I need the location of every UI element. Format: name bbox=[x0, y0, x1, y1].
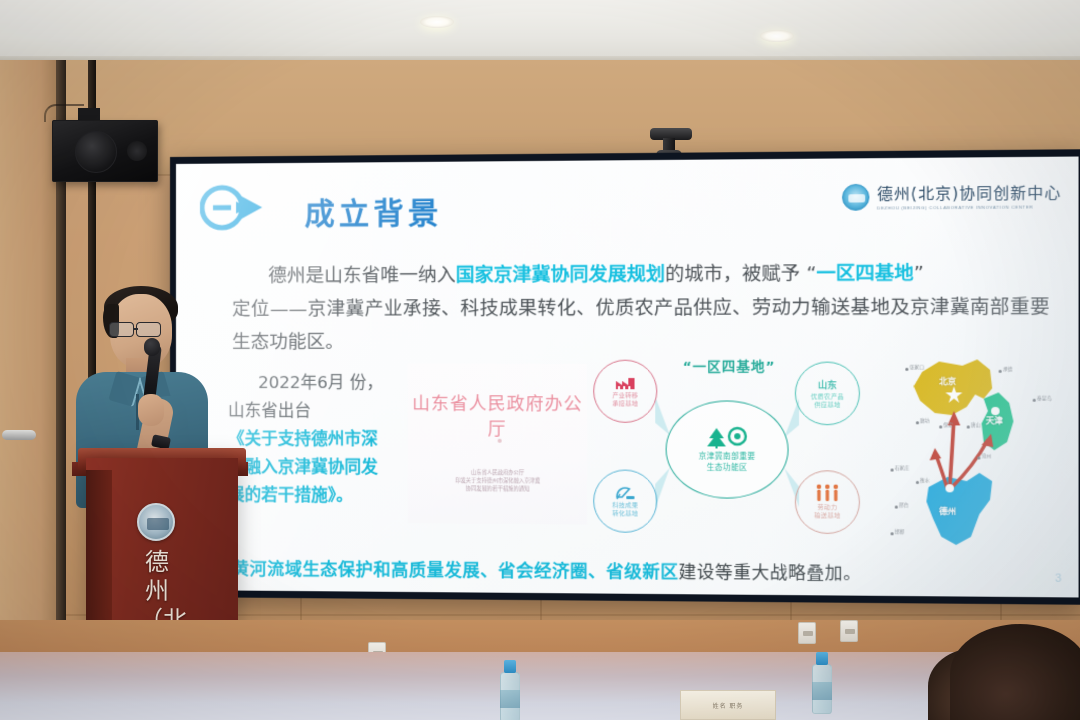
document-thumbnail: 山东省人民政府办公厅 山东省人民政府办公厅 印发关于支持德州市深化融入京津冀 协… bbox=[408, 364, 587, 525]
section-number-badge bbox=[200, 181, 264, 244]
ceiling bbox=[0, 0, 1080, 64]
brand-name-cn: 德州(北京)协同创新中心 bbox=[877, 181, 1061, 204]
para-highlight-2: 一区四基地 bbox=[816, 263, 913, 285]
industry-label-2: 承接基地 bbox=[612, 400, 638, 408]
labor-label-1: 劳动力 bbox=[814, 504, 840, 512]
map-label: 廊坊 bbox=[920, 418, 930, 424]
para-highlight-1: 国家京津冀协同发展规划 bbox=[456, 264, 665, 286]
glasses-right-lens bbox=[136, 322, 161, 337]
slide-left-text: 2022年6月 份，山东省出台 《关于支持德州市深化融入京津冀协同发展的若干措施… bbox=[228, 369, 389, 510]
projection-screen-frame: 成立背景 德州(北京)协同创新中心 DEZHOU (BEIJING) COLLA… bbox=[170, 149, 1080, 605]
diagram-node-center: 京津冀南部重要 生态功能区 bbox=[666, 400, 789, 498]
document-seal-icon bbox=[497, 439, 501, 443]
slide-paragraph: 德州是山东省唯一纳入国家京津冀协同发展规划的城市，被赋予 “一区四基地” 定位—… bbox=[232, 256, 1050, 359]
foreground-attendee-head bbox=[950, 624, 1080, 720]
document-header-text: 山东省人民政府办公厅 bbox=[408, 390, 587, 441]
labor-label-2: 输送基地 bbox=[814, 512, 840, 520]
downlight bbox=[760, 30, 794, 42]
map-city-beijing: 北京 bbox=[939, 376, 956, 387]
name-card-text: 姓名 职务 bbox=[681, 701, 775, 710]
center-label-2: 生态功能区 bbox=[699, 462, 756, 473]
map-label: 邯郸 bbox=[895, 529, 905, 535]
satellite-dish-icon bbox=[614, 484, 637, 500]
agri-label-2: 供应基地 bbox=[811, 401, 844, 409]
map-label: 秦皇岛 bbox=[1037, 396, 1052, 402]
bottle-cap-icon bbox=[816, 652, 828, 665]
map-label: 沧州 bbox=[982, 453, 992, 459]
brand-name-en: DEZHOU (BEIJING) COLLABORATIVE INNOVATIO… bbox=[877, 204, 1061, 210]
brand-logo: 德州(北京)协同创新中心 DEZHOU (BEIJING) COLLABORAT… bbox=[842, 181, 1061, 210]
glasses-bridge bbox=[134, 328, 138, 330]
bottle-cap-icon bbox=[504, 660, 516, 673]
wall-outlet[interactable] bbox=[798, 622, 816, 644]
map-label: 保定 bbox=[943, 422, 953, 428]
slide-page-number: 3 bbox=[1055, 572, 1062, 584]
speaker-tweeter-icon bbox=[127, 141, 147, 161]
one-zone-four-bases-diagram: “一区四基地” 京津冀南部重要 bbox=[587, 355, 868, 540]
left-tail: 。 bbox=[336, 486, 353, 505]
name-card: 姓名 职务 bbox=[680, 690, 776, 720]
center-label-1: 京津冀南部重要 bbox=[699, 450, 756, 461]
institution-emblem-icon bbox=[137, 503, 175, 541]
projection-screen: 成立背景 德州(北京)协同创新中心 DEZHOU (BEIJING) COLLA… bbox=[176, 157, 1079, 598]
microphone-head-icon bbox=[144, 338, 160, 356]
para-seg-3: ” bbox=[914, 263, 924, 285]
tech-label-2: 转化基地 bbox=[612, 510, 638, 518]
map-label: 唐山 bbox=[971, 422, 981, 428]
agri-top-label: 山东 bbox=[818, 378, 837, 391]
speaker-cone-icon bbox=[75, 131, 117, 173]
brand-emblem-icon bbox=[842, 183, 869, 210]
left-emphasis: 《关于支持德州市深化融入京津冀协同发展的若干措施》 bbox=[228, 429, 378, 505]
diagram-node-tech: 科技成果 转化基地 bbox=[593, 469, 657, 532]
front-table bbox=[0, 652, 1080, 720]
conference-room-photo: 成立背景 德州(北京)协同创新中心 DEZHOU (BEIJING) COLLA… bbox=[0, 0, 1080, 720]
para-seg-4: 定位——京津冀产业承接、科技成果转化、优质农产品供应、劳动力输送基地及京津冀南部… bbox=[232, 296, 1050, 353]
wall-speaker bbox=[52, 120, 158, 182]
people-icon bbox=[814, 484, 841, 503]
map-city-dezhou: 德州 bbox=[939, 506, 956, 517]
para-seg-2: 的城市，被赋予 “ bbox=[665, 263, 816, 285]
map-label: 石家庄 bbox=[895, 465, 910, 471]
water-bottle[interactable] bbox=[500, 660, 520, 720]
document-body-text: 山东省人民政府办公厅 印发关于支持德州市深化融入京津冀 协同发展的若干措施的通知 bbox=[426, 469, 569, 494]
tree-gear-icon bbox=[704, 426, 750, 449]
map-label: 邢台 bbox=[899, 502, 909, 508]
bottom-emphasis: 黄河流域生态保护和高质量发展、省会经济圈、省级新区 bbox=[232, 559, 679, 583]
diagram-node-industry: 产业转移 承接基地 bbox=[593, 360, 657, 423]
para-seg-1: 德州是山东省唯一纳入 bbox=[268, 265, 455, 287]
glasses-left-lens bbox=[109, 322, 134, 337]
door-handle[interactable] bbox=[2, 430, 36, 440]
water-bottle[interactable] bbox=[812, 652, 832, 714]
map-label: 张家口 bbox=[910, 365, 925, 371]
tech-label-1: 科技成果 bbox=[612, 502, 638, 510]
factory-icon bbox=[614, 374, 637, 390]
slide-title: 成立背景 bbox=[305, 188, 443, 233]
map-label: 承德 bbox=[1003, 367, 1013, 373]
slide-bottom-line: 黄河流域生态保护和高质量发展、省会经济圈、省级新区建设等重大战略叠加。 bbox=[232, 554, 1060, 586]
agri-label-1: 优质农产品 bbox=[811, 393, 844, 401]
presenter-hand bbox=[138, 394, 164, 426]
diagram-node-labor: 劳动力 输送基地 bbox=[795, 470, 860, 534]
bottom-rest: 建设等重大战略叠加。 bbox=[679, 563, 862, 585]
downlight bbox=[420, 16, 454, 28]
document-body-line-3: 协同发展的若干措施的通知 bbox=[426, 485, 569, 494]
diagram-node-agri: 山东 优质农产品 供应基地 bbox=[795, 362, 860, 426]
map-label: 衡水 bbox=[920, 478, 930, 484]
wall-outlet[interactable] bbox=[840, 620, 858, 642]
map-city-tianjin: 天津 bbox=[986, 415, 1003, 426]
region-map: 北京 天津 德州 张家口 承德 秦皇岛 廊坊 保定 唐山 沧州 石家庄 bbox=[874, 353, 1070, 565]
industry-label-1: 产业转移 bbox=[612, 392, 638, 400]
left-line-1: 2022年6月 bbox=[258, 373, 344, 392]
